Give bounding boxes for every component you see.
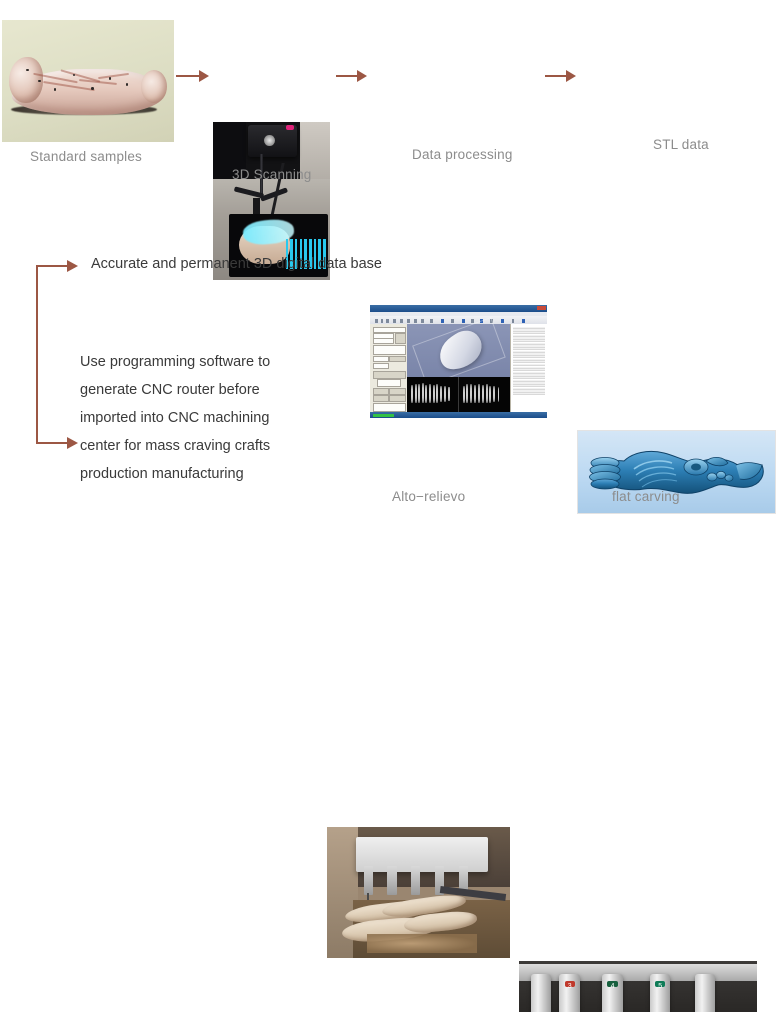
arrow-right-icon-1 bbox=[176, 70, 210, 82]
process-image-standard-samples bbox=[2, 20, 174, 142]
arrow-right-icon-3 bbox=[545, 70, 577, 82]
paragraph-line-2: generate CNC router before bbox=[80, 376, 288, 404]
bracket-arm-top bbox=[36, 265, 68, 267]
marker-dot bbox=[91, 87, 94, 90]
bracket-arm-bottom bbox=[36, 442, 68, 444]
carved-sample-foot-right bbox=[141, 70, 167, 103]
caption-3d-scanning: 3D Scanning bbox=[232, 168, 312, 182]
cnc-spindle: 3 bbox=[559, 974, 579, 1012]
marker-dot bbox=[38, 80, 41, 83]
spindle-label: 4 bbox=[607, 981, 618, 987]
paragraph-line-1: Use programming software to bbox=[80, 348, 288, 376]
scanner-lens-icon bbox=[264, 135, 275, 146]
marker-dot bbox=[109, 77, 112, 80]
software-camera-view-right bbox=[459, 377, 510, 412]
outcome-headline: Accurate and permanent 3D digital data b… bbox=[91, 257, 382, 272]
caption-data-processing: Data processing bbox=[412, 148, 513, 162]
arrow-right-icon-2 bbox=[336, 70, 368, 82]
arrow-right-icon-bottom bbox=[67, 437, 78, 449]
software-camera-view-left bbox=[407, 377, 458, 412]
cnc-spindle bbox=[695, 974, 715, 1012]
process-image-data-processing bbox=[370, 305, 547, 418]
outcome-paragraph: Use programming software to generate CNC… bbox=[80, 348, 288, 488]
software-3d-viewport bbox=[407, 324, 510, 377]
paragraph-line-2-text: generate CNC router before bbox=[80, 376, 288, 404]
cnc-spindle: 5 bbox=[650, 974, 670, 1012]
marker-dot bbox=[54, 88, 57, 91]
cnc-gantry bbox=[356, 837, 488, 871]
result-image-flat-carving: 3 4 5 bbox=[519, 961, 757, 1012]
marker-dot bbox=[26, 69, 29, 72]
paragraph-line-5: production manufacturing bbox=[80, 460, 288, 488]
caption-flat-carving: flat carving bbox=[612, 490, 680, 504]
cnc-spindle bbox=[531, 974, 551, 1012]
scanner-indicator-light bbox=[286, 125, 294, 130]
paragraph-line-3: imported into CNC machining bbox=[80, 404, 288, 432]
software-left-panel bbox=[370, 324, 408, 412]
cnc-crossbeam bbox=[519, 964, 757, 982]
bracket-connector bbox=[36, 258, 86, 448]
diagram-canvas: Standard samples 3D Scanning bbox=[0, 0, 780, 506]
bracket-vertical-line bbox=[36, 265, 38, 444]
window-close-icon bbox=[537, 306, 546, 310]
caption-alto-relievo: Alto−relievo bbox=[392, 490, 465, 504]
spindle-label: 5 bbox=[655, 981, 666, 987]
progress-indicator bbox=[373, 414, 394, 417]
caption-standard-samples: Standard samples bbox=[30, 150, 142, 164]
caption-stl-data: STL data bbox=[653, 138, 709, 152]
paragraph-line-4: center for mass craving crafts bbox=[80, 432, 288, 460]
window-titlebar bbox=[370, 305, 547, 312]
spindle-label: 3 bbox=[565, 981, 576, 987]
software-right-list-panel bbox=[510, 324, 547, 412]
wood-chips bbox=[367, 934, 477, 952]
arrow-right-icon-top bbox=[67, 260, 78, 272]
result-image-alto-relievo bbox=[327, 827, 510, 958]
cnc-spindle: 4 bbox=[602, 974, 622, 1012]
window-statusbar bbox=[370, 412, 547, 418]
